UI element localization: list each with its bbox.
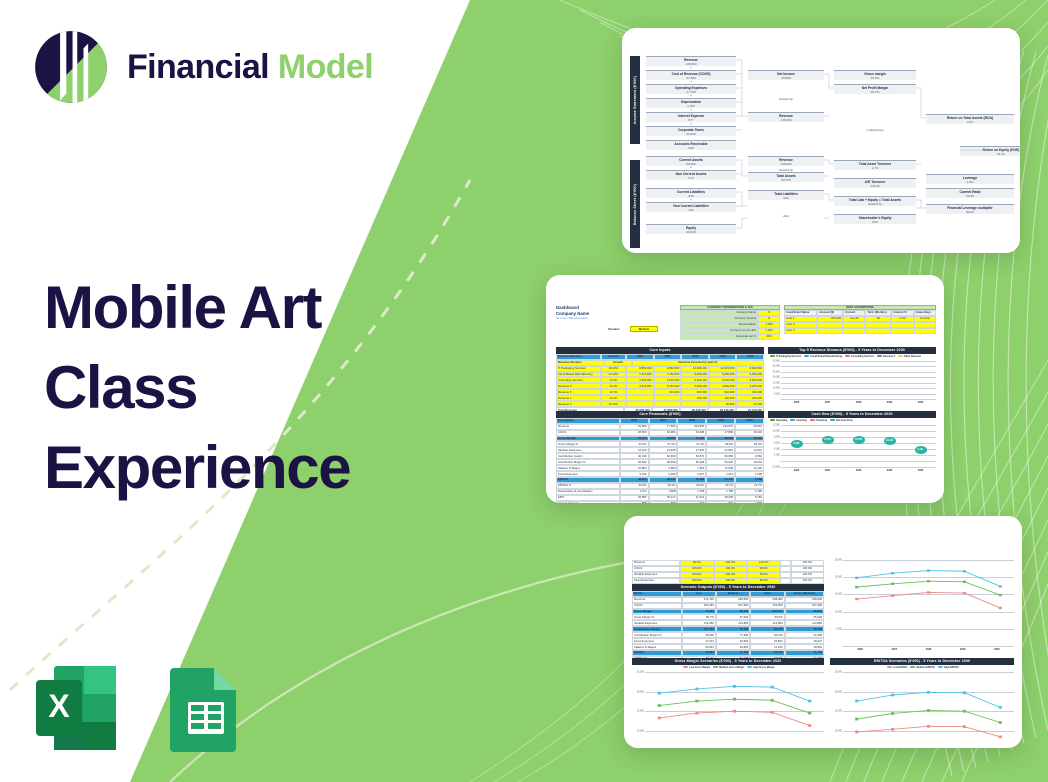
screenshot-card-dashboard[interactable]: Dashboard Company Name Go to Key Tabs of… bbox=[546, 275, 944, 503]
legend-item: IT Packaging Services bbox=[770, 355, 801, 358]
flowchart-operator-plus: + bbox=[646, 108, 736, 112]
flowchart-box: Accounts Receivable948 bbox=[646, 140, 736, 150]
legend-label: High EBITDA bbox=[944, 666, 959, 669]
flowchart-box: Shareholder's Equity800 bbox=[834, 214, 916, 224]
legend-item: Revenue 4 bbox=[877, 355, 895, 358]
axis-tick-label: 25,000 bbox=[835, 671, 842, 674]
chart-y-axis: 25,00020,00015,00010,0005,000- bbox=[830, 560, 843, 646]
dashboard-header: Dashboard Company Name Go to Key Tabs of… bbox=[556, 305, 589, 322]
axis-tick-label: 20,000 bbox=[835, 576, 842, 579]
legend-item: Cloud Based Manufacturing bbox=[804, 355, 842, 358]
google-sheets-icon[interactable] bbox=[162, 662, 250, 754]
chart-plot-area: 8,66810,25110,26510,1906,191 bbox=[781, 425, 936, 467]
panel-core-inputs: Core Inputs Revenue Streams Growth 2026 … bbox=[556, 347, 764, 413]
axis-tick-label: (2,000) bbox=[772, 466, 780, 469]
axis-tick-label: 15,000 bbox=[835, 593, 842, 596]
axis-tick-label: 30,000 bbox=[773, 365, 780, 368]
legend-label: Other Revenue bbox=[904, 355, 921, 358]
chart-legend: OperatingInvestingFinancingNet Cash Flow bbox=[768, 418, 936, 422]
chart-x-axis: 20262027202820292030 bbox=[843, 647, 1014, 654]
axis-tick-label: 2028 bbox=[843, 400, 874, 407]
axis-tick-label: 5,000 bbox=[774, 392, 780, 395]
legend-item: High Gross Margin bbox=[747, 666, 774, 669]
table-row: Corporate tax %30% bbox=[680, 334, 780, 340]
legend-item: Medium EBITDA bbox=[910, 666, 935, 669]
legend-item: Low EBITDA bbox=[887, 666, 907, 669]
chart-x-axis: 20262027202820292030 bbox=[781, 400, 936, 407]
data-label-pill: 10,265 bbox=[853, 436, 865, 444]
flowchart-box: Financial Leverage multiplier$0.22 bbox=[926, 204, 1014, 214]
legend-label: Investing bbox=[796, 419, 807, 422]
legend-item: Consulting Services bbox=[845, 355, 874, 358]
chart-plot-area bbox=[843, 560, 1014, 646]
legend-swatch bbox=[713, 666, 718, 668]
scenario-selector[interactable]: Medium bbox=[630, 326, 658, 332]
flowchart-box: Total Liab + Equity = Total Assetsdivide… bbox=[834, 196, 916, 206]
axis-tick-label: 2030 bbox=[905, 400, 936, 407]
chart-y-axis: 12,00010,0008,0006,0004,0002,000-(2,000) bbox=[768, 425, 781, 467]
legend-label: Revenue 4 bbox=[883, 355, 895, 358]
brand-name-part1: Financial bbox=[127, 48, 269, 86]
axis-tick-label: 10,000 bbox=[835, 610, 842, 613]
legend-label: Financing bbox=[816, 419, 827, 422]
axis-tick-label: 2028 bbox=[911, 647, 945, 654]
panel-debt-assumptions: DEBT ASSUMPTIONS Loan/Grant Name Amount … bbox=[784, 305, 936, 334]
brand-wordmark: Financial Model bbox=[127, 48, 373, 87]
legend-label: High Gross Margin bbox=[753, 666, 774, 669]
data-label-pill: 8,668 bbox=[791, 440, 803, 448]
legend-label: Low EBITDA bbox=[893, 666, 907, 669]
flowchart-box: Current Liabilities848 bbox=[646, 188, 736, 198]
page-title-line-1: Mobile Art bbox=[44, 268, 464, 348]
legend-item: Investing bbox=[790, 419, 807, 422]
page-title: Mobile Art Class Experience bbox=[44, 268, 464, 508]
table-cell: 577 bbox=[677, 501, 706, 503]
panel-chart-ebitda-scenarios: EBITDA Scenarios ($'000) - 5 Years to De… bbox=[830, 658, 1014, 748]
axis-tick-label: 20,000 bbox=[773, 376, 780, 379]
page-title-line-2: Class bbox=[44, 348, 464, 428]
screenshot-card-financial-ratio-flowchart[interactable]: Income Statement ($'000) Balance Sheet (… bbox=[622, 28, 1020, 253]
panel-chart-gross-margin-scenarios: Gross Margin Scenarios ($'000) - 5 Years… bbox=[632, 658, 824, 748]
legend-label: Medium Gross Margin bbox=[719, 666, 744, 669]
axis-tick-label: 8,000 bbox=[774, 436, 780, 439]
flowchart-box: Net Profit Margin35.7% bbox=[834, 84, 916, 94]
axis-tick-label: 4,000 bbox=[774, 448, 780, 451]
axis-tick-label: 20,000 bbox=[835, 690, 842, 693]
axis-tick-label: 2027 bbox=[877, 647, 911, 654]
chart-x-axis: 20262027202820292030 bbox=[781, 468, 936, 475]
legend-label: Net Cash Flow bbox=[836, 419, 852, 422]
brand-logo: Financial Model bbox=[32, 28, 373, 106]
axis-tick-label: 15,000 bbox=[835, 710, 842, 713]
flowchart-box: Revenue136,800 bbox=[748, 112, 824, 122]
legend-swatch bbox=[898, 355, 903, 357]
legend-label: IT Packaging Services bbox=[776, 355, 801, 358]
flowchart-operator-plus: + bbox=[646, 94, 736, 98]
axis-tick-label: - bbox=[841, 645, 842, 648]
flowchart-box: Current Ratio58.98 bbox=[926, 188, 1014, 198]
chart-plot-area bbox=[781, 361, 936, 399]
axis-tick-label: 2030 bbox=[905, 468, 936, 475]
axis-tick-label: 10,000 bbox=[773, 430, 780, 433]
panel-core-financials: Core Financials ($'000) Description 2026… bbox=[556, 411, 764, 503]
legend-label: Medium EBITDA bbox=[916, 666, 935, 669]
axis-tick-label: 25,000 bbox=[773, 370, 780, 373]
screenshot-card-scenario-analysis[interactable]: Revenue80.0%100.0%120.0%100.0%COGS105.0%… bbox=[624, 516, 1022, 748]
axis-tick-label: 20,000 bbox=[637, 690, 644, 693]
table-cell: 559 bbox=[649, 501, 678, 503]
axis-tick-label: 10,000 bbox=[773, 387, 780, 390]
dashboard-toc-link[interactable]: Go to Key Tabs of Contents bbox=[556, 316, 589, 322]
legend-swatch bbox=[790, 419, 795, 421]
flowchart-box: Return on Total Assets (ROA)0.97 bbox=[926, 114, 1014, 124]
axis-tick-label: 2027 bbox=[812, 468, 843, 475]
axis-tick-label: 25,000 bbox=[835, 559, 842, 562]
axis-tick-label: 2026 bbox=[843, 647, 877, 654]
panel-chart-cash-flow: Cash flow ($'000) - 5 Years to December … bbox=[768, 411, 936, 475]
flowchart-box: Current Assets50,009 bbox=[646, 156, 736, 166]
axis-tick-label: 10,000 bbox=[637, 729, 644, 732]
legend-swatch bbox=[830, 419, 835, 421]
panel-title: Top 5 Revenue Streams ($'000) - 5 Years … bbox=[768, 347, 936, 354]
chart-plot-area bbox=[843, 672, 1014, 748]
flowchart-box: Corporate Taxes20,628 bbox=[646, 126, 736, 136]
flowchart-box: Leverage1.9% bbox=[926, 174, 1014, 184]
flowchart-box: Equity49,629 bbox=[646, 224, 736, 234]
flowchart-box: A/R Turnover144.26 bbox=[834, 178, 916, 188]
flowchart-box: Non Current Liabilities100 bbox=[646, 202, 736, 212]
legend-item: Other Revenue bbox=[898, 355, 921, 358]
legend-swatch bbox=[770, 355, 775, 357]
legend-swatch bbox=[747, 666, 752, 668]
flowchart-operator-plus: + bbox=[646, 122, 736, 126]
dashboard-title: Dashboard bbox=[556, 305, 579, 310]
panel-title: EBITDA Scenarios ($'000) - 5 Years to De… bbox=[830, 658, 1014, 665]
chart-legend: Low Gross MarginMedium Gross MarginHigh … bbox=[632, 665, 824, 669]
flowchart-operator-add: Add bbox=[748, 214, 824, 218]
legend-swatch bbox=[804, 355, 809, 357]
legend-label: Cloud Based Manufacturing bbox=[810, 355, 842, 358]
microsoft-excel-icon[interactable]: X bbox=[32, 662, 120, 754]
flowchart-side-label-balance-sheet: Balance Sheet ($'000) bbox=[630, 160, 640, 248]
line-series-group bbox=[843, 672, 1014, 748]
line-series-group bbox=[843, 560, 1014, 646]
chart-legend: IT Packaging ServicesCloud Based Manufac… bbox=[768, 354, 936, 358]
brand-name-part2: Model bbox=[278, 48, 373, 86]
chart-y-axis: 25,00020,00015,00010,0005,000- bbox=[830, 672, 843, 748]
axis-tick-label: 12,000 bbox=[773, 424, 780, 427]
axis-tick-label: 2028 bbox=[843, 468, 874, 475]
legend-swatch bbox=[938, 666, 943, 668]
flowchart-operator-plus: + bbox=[646, 66, 736, 70]
panel-title: Core Financials ($'000) bbox=[556, 411, 764, 418]
axis-tick-label: 15,000 bbox=[637, 710, 644, 713]
table-cell: 610 bbox=[706, 501, 735, 503]
flowchart-box: Total Asset Turnover2.70 bbox=[834, 160, 916, 170]
flowchart-box-return-on-equity: Return on Equity (ROE)61.03 bbox=[960, 146, 1020, 156]
data-label-pill: 10,251 bbox=[822, 436, 834, 444]
axis-tick-label: 2027 bbox=[812, 400, 843, 407]
scenario-label: Scenario bbox=[608, 327, 620, 331]
legend-label: Low Gross Margin bbox=[689, 666, 710, 669]
circle-bar-chart-icon bbox=[32, 28, 110, 106]
panel-title: Cash flow ($'000) - 5 Years to December … bbox=[768, 411, 936, 418]
axis-tick-label: 2026 bbox=[781, 400, 812, 407]
file-format-icons: X bbox=[32, 662, 250, 754]
legend-swatch bbox=[770, 419, 775, 421]
legend-swatch bbox=[910, 666, 915, 668]
legend-label: Consulting Services bbox=[851, 355, 874, 358]
legend-item: Operating bbox=[770, 419, 787, 422]
flowchart-box: Net Income48,828 bbox=[748, 70, 824, 80]
flowchart-box: Gross margin65.0% bbox=[834, 70, 916, 80]
legend-swatch bbox=[810, 419, 815, 421]
panel-title: Scenario Outputs ($'000) - 5 Years to De… bbox=[632, 584, 824, 591]
axis-tick-label: 6,000 bbox=[774, 442, 780, 445]
flowchart-operator-divided-by: divided by bbox=[748, 97, 824, 101]
legend-item: Financing bbox=[810, 419, 827, 422]
panel-title: Core Inputs bbox=[556, 347, 764, 354]
data-label-pill: 10,190 bbox=[884, 437, 896, 445]
flowchart-side-label-income-statement: Income Statement ($'000) bbox=[630, 56, 640, 144]
page-title-line-3: Experience bbox=[44, 428, 464, 508]
flowchart-operator-multiplied-by: multiplied by bbox=[834, 128, 916, 132]
flowchart-box: Total Liabilities948 bbox=[748, 190, 824, 200]
flowchart-box: Total Assets50,578 bbox=[748, 172, 824, 182]
flowchart-box: Non Current Assets570 bbox=[646, 170, 736, 180]
panel-chart-revenue-scenarios: 25,00020,00015,00010,0005,000- 202620272… bbox=[830, 560, 1014, 654]
axis-tick-label: - bbox=[779, 460, 780, 463]
axis-tick-label: 2030 bbox=[980, 647, 1014, 654]
chart-y-axis: 25,00020,00015,00010,0005,000- bbox=[632, 672, 645, 748]
axis-tick-label: 2029 bbox=[874, 400, 905, 407]
axis-tick-label: 10,000 bbox=[835, 729, 842, 732]
panel-title: Gross Margin Scenarios ($'000) - 5 Years… bbox=[632, 658, 824, 665]
legend-item: Net Cash Flow bbox=[830, 419, 852, 422]
axis-tick-label: 15,000 bbox=[773, 381, 780, 384]
slide-canvas: Financial Model Mobile Art Class Experie… bbox=[0, 0, 1048, 782]
legend-swatch bbox=[887, 666, 892, 668]
flowchart-operator-plus: + bbox=[646, 80, 736, 84]
table-cell: 1,800 bbox=[735, 501, 764, 503]
axis-tick-label: 2026 bbox=[781, 468, 812, 475]
table-cell: Interest Expense bbox=[556, 501, 620, 503]
table-row: Loan 3 bbox=[784, 328, 936, 334]
chart-legend: Low EBITDAMedium EBITDAHigh EBITDA bbox=[830, 665, 1014, 669]
panel-currency-denomination-tax: CURRENCY DENOMINATION & TAX Currency Nam… bbox=[680, 305, 780, 340]
data-label-pill: 6,191 bbox=[915, 446, 927, 454]
panel-chart-top-revenue-streams: Top 5 Revenue Streams ($'000) - 5 Years … bbox=[768, 347, 936, 407]
axis-tick-label: 2,000 bbox=[774, 454, 780, 457]
axis-tick-label: 5,000 bbox=[836, 627, 842, 630]
axis-tick-label: - bbox=[779, 398, 780, 401]
legend-item: Low Gross Margin bbox=[683, 666, 710, 669]
panel-scenario-outputs: Scenario Outputs ($'000) - 5 Years to De… bbox=[632, 584, 824, 662]
legend-swatch bbox=[683, 666, 688, 668]
legend-swatch bbox=[877, 355, 882, 357]
legend-item: Medium Gross Margin bbox=[713, 666, 744, 669]
legend-item: High EBITDA bbox=[938, 666, 959, 669]
legend-swatch bbox=[845, 355, 850, 357]
flowchart-box: Revenue136,800 bbox=[748, 156, 824, 166]
table-row: Interest Expense5885595776101,800 bbox=[556, 501, 764, 503]
axis-tick-label: 2029 bbox=[946, 647, 980, 654]
axis-tick-label: 25,000 bbox=[637, 671, 644, 674]
legend-label: Operating bbox=[776, 419, 787, 422]
chart-plot-area bbox=[645, 672, 824, 748]
line-series-group bbox=[645, 672, 824, 748]
table-cell: 588 bbox=[620, 501, 649, 503]
chart-y-axis: 35,00030,00025,00020,00015,00010,0005,00… bbox=[768, 361, 781, 399]
excel-x-glyph: X bbox=[48, 688, 70, 724]
axis-tick-label: 35,000 bbox=[773, 360, 780, 363]
axis-tick-label: 2029 bbox=[874, 468, 905, 475]
